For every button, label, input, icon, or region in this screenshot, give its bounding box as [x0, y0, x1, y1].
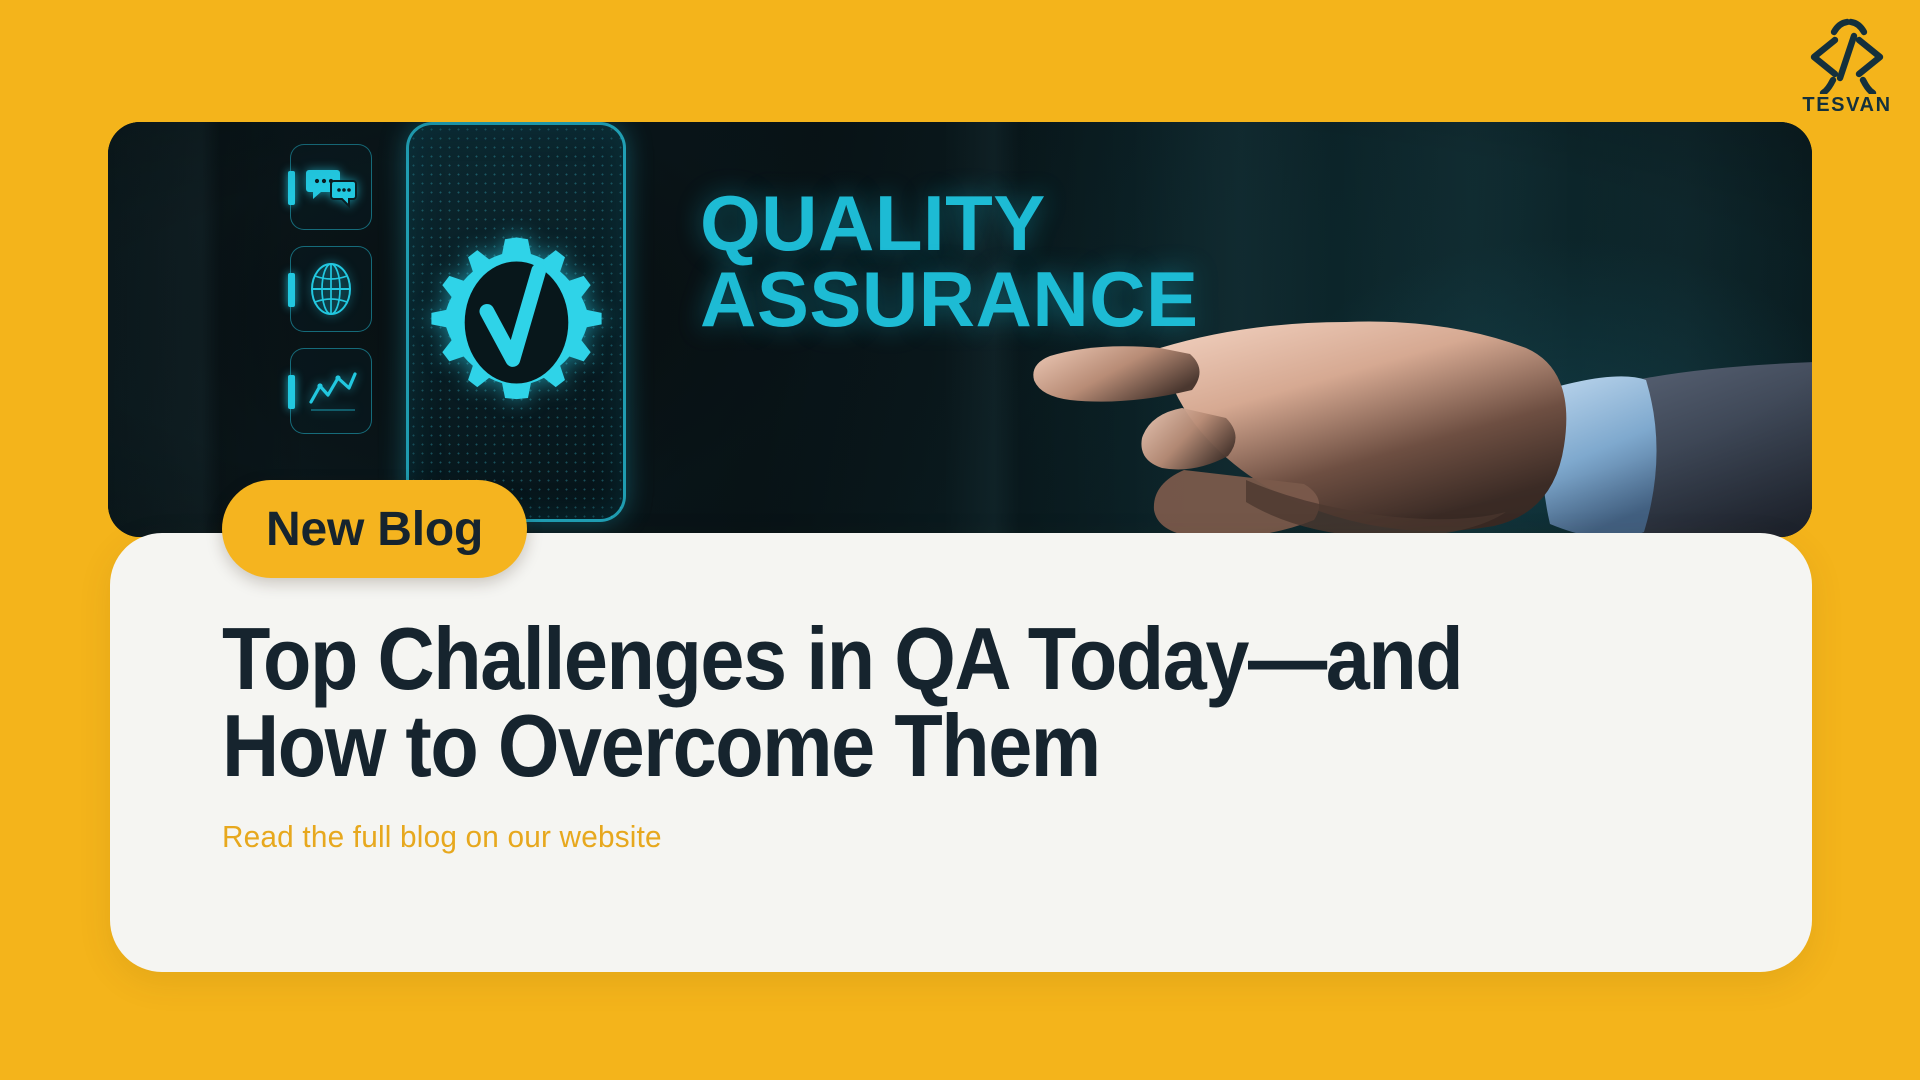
content-card: Top Challenges in QA Today—and How to Ov…: [110, 533, 1812, 972]
brand-wordmark: TESVAN: [1802, 95, 1891, 115]
page-title: Top Challenges in QA Today—and How to Ov…: [222, 615, 1572, 789]
hero-vignette: [108, 122, 1812, 537]
new-blog-badge-label: New Blog: [266, 502, 483, 557]
content-card-body: Top Challenges in QA Today—and How to Ov…: [222, 615, 1722, 855]
card-subtitle: Read the full blog on our website: [222, 819, 1662, 855]
new-blog-badge[interactable]: New Blog: [222, 480, 527, 578]
hero-image: QUALITY ASSURANCE: [108, 122, 1812, 537]
code-brackets-person-icon: [1804, 14, 1890, 94]
brand-logo: TESVAN: [1788, 14, 1906, 126]
